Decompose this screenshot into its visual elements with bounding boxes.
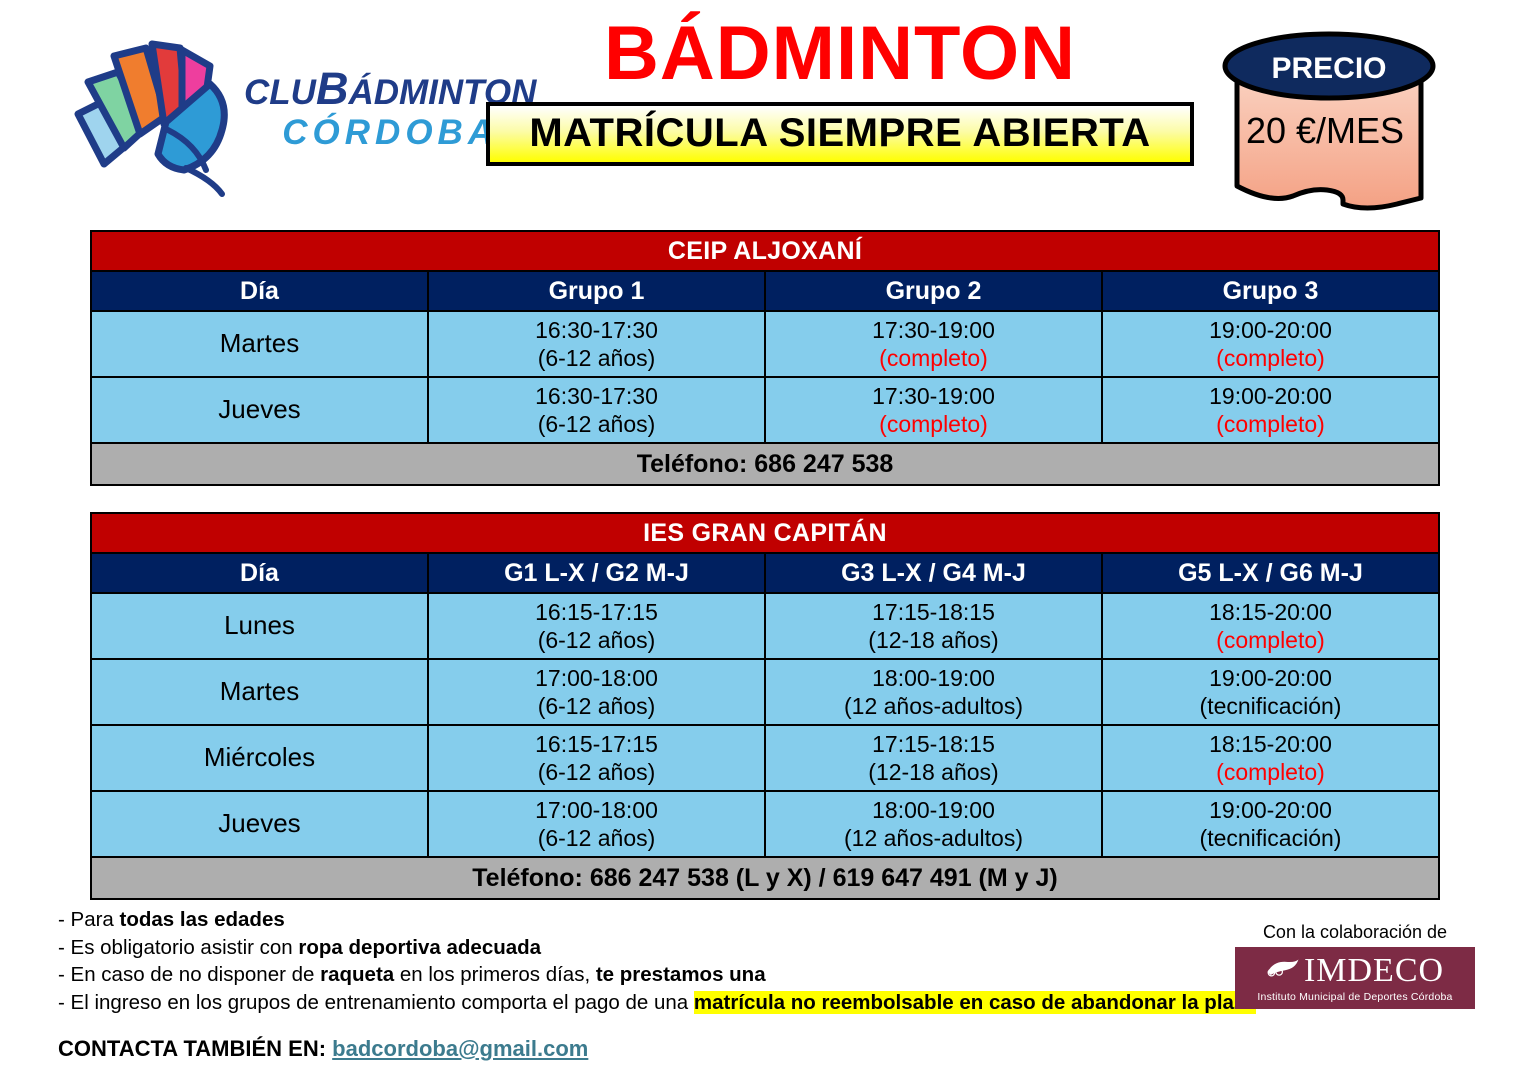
cell-note: (12-18 años): [766, 626, 1101, 654]
cell-time: 17:00-18:00: [429, 796, 764, 824]
day-label: Martes: [91, 659, 428, 725]
column-header-group-3: Grupo 3: [1102, 271, 1439, 311]
cell-time: 17:00-18:00: [429, 664, 764, 692]
cell-time: 17:15-18:15: [766, 730, 1101, 758]
table-header-row: Día G1 L-X / G2 M-J G3 L-X / G4 M-J G5 L…: [91, 553, 1439, 593]
cell-note: (12-18 años): [766, 758, 1101, 786]
cell-time: 16:15-17:15: [429, 730, 764, 758]
table-row: Jueves 16:30-17:30 (6-12 años) 17:30-19:…: [91, 377, 1439, 443]
cell-note: (completo): [1103, 410, 1438, 438]
day-label: Martes: [91, 311, 428, 377]
imdeco-swoosh-icon: [1266, 957, 1300, 984]
day-label: Jueves: [91, 791, 428, 857]
cell-note: (tecnificación): [1103, 824, 1438, 852]
cell-note: (completo): [766, 410, 1101, 438]
table-row: Lunes 16:15-17:15 (6-12 años) 17:15-18:1…: [91, 593, 1439, 659]
table-header-row: Día Grupo 1 Grupo 2 Grupo 3: [91, 271, 1439, 311]
note-text: - El ingreso en los grupos de entrenamie…: [58, 991, 694, 1014]
day-label: Lunes: [91, 593, 428, 659]
poster-header: CLUBÁDMINTON CÓRDOBA BÁDMINTON MATRÍCULA…: [0, 0, 1522, 220]
column-header-group-1: Grupo 1: [428, 271, 765, 311]
note-text: - Para: [58, 908, 120, 931]
column-header-group-1: G1 L-X / G2 M-J: [428, 553, 765, 593]
schedule-cell: 19:00-20:00 (completo): [1102, 311, 1439, 377]
cell-time: 16:15-17:15: [429, 598, 764, 626]
schedule-cell: 17:30-19:00 (completo): [765, 311, 1102, 377]
schedule-cell: 16:30-17:30 (6-12 años): [428, 377, 765, 443]
shuttlecock-icon: [70, 18, 240, 198]
schedule-cell: 17:15-18:15 (12-18 años): [765, 725, 1102, 791]
cell-time: 18:00-19:00: [766, 664, 1101, 692]
note-text: - Es obligatorio asistir con: [58, 936, 298, 959]
schedule-cell: 19:00-20:00 (tecnificación): [1102, 659, 1439, 725]
schedule-cell: 18:15-20:00 (completo): [1102, 725, 1439, 791]
cell-time: 19:00-20:00: [1103, 316, 1438, 344]
table-row: Miércoles 16:15-17:15 (6-12 años) 17:15-…: [91, 725, 1439, 791]
schedule-cell: 17:00-18:00 (6-12 años): [428, 659, 765, 725]
column-header-group-2: G3 L-X / G4 M-J: [765, 553, 1102, 593]
cell-time: 19:00-20:00: [1103, 382, 1438, 410]
note-item: - Para todas las edades: [58, 906, 1238, 934]
imdeco-logo: IMDECO Instituto Municipal de Deportes C…: [1235, 947, 1475, 1009]
title-block: BÁDMINTON MATRÍCULA SIEMPRE ABIERTA: [480, 14, 1200, 166]
phone-label[interactable]: Teléfono: 686 247 538 (L y X) / 619 647 …: [91, 857, 1439, 899]
schedule-cell: 16:15-17:15 (6-12 años): [428, 725, 765, 791]
schedule-cell: 19:00-20:00 (completo): [1102, 377, 1439, 443]
phone-label[interactable]: Teléfono: 686 247 538: [91, 443, 1439, 485]
cell-time: 16:30-17:30: [429, 316, 764, 344]
note-text: todas las edades: [120, 908, 285, 931]
enrollment-banner: MATRÍCULA SIEMPRE ABIERTA: [486, 102, 1194, 166]
price-badge: PRECIO 20 €/MES: [1215, 28, 1445, 213]
cell-time: 18:00-19:00: [766, 796, 1101, 824]
cell-note: (completo): [766, 344, 1101, 372]
table-row: Martes 16:30-17:30 (6-12 años) 17:30-19:…: [91, 311, 1439, 377]
table-row: Jueves 17:00-18:00 (6-12 años) 18:00-19:…: [91, 791, 1439, 857]
column-header-day: Día: [91, 271, 428, 311]
cell-note: (6-12 años): [429, 824, 764, 852]
contact-email-link[interactable]: badcordoba@gmail.com: [332, 1036, 588, 1061]
cell-time: 17:30-19:00: [766, 316, 1101, 344]
cell-time: 17:15-18:15: [766, 598, 1101, 626]
notes-list: - Para todas las edades- Es obligatorio …: [58, 906, 1238, 1016]
cell-note: (completo): [1103, 344, 1438, 372]
schedule-cell: 17:30-19:00 (completo): [765, 377, 1102, 443]
schedule-cell: 17:00-18:00 (6-12 años): [428, 791, 765, 857]
cell-time: 19:00-20:00: [1103, 796, 1438, 824]
cell-note: (6-12 años): [429, 758, 764, 786]
column-header-group-3: G5 L-X / G6 M-J: [1102, 553, 1439, 593]
contact-line: CONTACTA TAMBIÉN EN: badcordoba@gmail.co…: [58, 1036, 588, 1062]
page-title: BÁDMINTON: [480, 14, 1200, 94]
imdeco-subtitle: Instituto Municipal de Deportes Córdoba: [1257, 991, 1452, 1003]
contact-label: CONTACTA TAMBIÉN EN:: [58, 1036, 326, 1061]
enrollment-banner-label: MATRÍCULA SIEMPRE ABIERTA: [529, 111, 1150, 156]
imdeco-name: IMDECO: [1304, 954, 1444, 988]
column-header-group-2: Grupo 2: [765, 271, 1102, 311]
note-text: raqueta: [320, 963, 394, 986]
day-label: Miércoles: [91, 725, 428, 791]
note-text: te prestamos una: [596, 963, 766, 986]
schedule-cell: 17:15-18:15 (12-18 años): [765, 593, 1102, 659]
cell-time: 18:15-20:00: [1103, 730, 1438, 758]
cell-time: 18:15-20:00: [1103, 598, 1438, 626]
cell-time: 17:30-19:00: [766, 382, 1101, 410]
day-label: Jueves: [91, 377, 428, 443]
cell-note: (tecnificación): [1103, 692, 1438, 720]
cell-time: 16:30-17:30: [429, 382, 764, 410]
schedule-table-gran-capitan: IES GRAN CAPITÁN Día G1 L-X / G2 M-J G3 …: [90, 512, 1440, 900]
table-row: Martes 17:00-18:00 (6-12 años) 18:00-19:…: [91, 659, 1439, 725]
schedule-cell: 16:30-17:30 (6-12 años): [428, 311, 765, 377]
cell-note: (12 años-adultos): [766, 824, 1101, 852]
collaboration-block: Con la colaboración de IMDECO Instituto …: [1215, 922, 1495, 1009]
schedule-cell: 19:00-20:00 (tecnificación): [1102, 791, 1439, 857]
note-text: - En caso de no disponer de: [58, 963, 320, 986]
schedule-cell: 18:15-20:00 (completo): [1102, 593, 1439, 659]
table-footer-row: Teléfono: 686 247 538 (L y X) / 619 647 …: [91, 857, 1439, 899]
table-title-row: CEIP ALJOXANÍ: [91, 231, 1439, 271]
column-header-day: Día: [91, 553, 428, 593]
note-item: - En caso de no disponer de raqueta en l…: [58, 961, 1238, 989]
cell-note: (6-12 años): [429, 410, 764, 438]
note-text: ropa deportiva adecuada: [298, 936, 541, 959]
cell-note: (6-12 años): [429, 344, 764, 372]
club-logo: CLUBÁDMINTON CÓRDOBA: [70, 18, 536, 198]
note-item: - El ingreso en los grupos de entrenamie…: [58, 989, 1238, 1017]
venue-title: IES GRAN CAPITÁN: [91, 513, 1439, 553]
note-text: en los primeros días,: [394, 963, 596, 986]
cell-time: 19:00-20:00: [1103, 664, 1438, 692]
schedule-cell: 18:00-19:00 (12 años-adultos): [765, 791, 1102, 857]
cell-note: (6-12 años): [429, 626, 764, 654]
table-footer-row: Teléfono: 686 247 538: [91, 443, 1439, 485]
price-badge-label: PRECIO: [1271, 52, 1386, 85]
collaboration-label: Con la colaboración de: [1215, 922, 1495, 943]
note-highlight: matrícula no reembolsable en caso de aba…: [694, 991, 1256, 1014]
cell-note: (12 años-adultos): [766, 692, 1101, 720]
cell-note: (completo): [1103, 626, 1438, 654]
schedule-cell: 18:00-19:00 (12 años-adultos): [765, 659, 1102, 725]
schedule-table-aljoxani: CEIP ALJOXANÍ Día Grupo 1 Grupo 2 Grupo …: [90, 230, 1440, 486]
schedule-cell: 16:15-17:15 (6-12 años): [428, 593, 765, 659]
note-item: - Es obligatorio asistir con ropa deport…: [58, 934, 1238, 962]
venue-title: CEIP ALJOXANÍ: [91, 231, 1439, 271]
price-badge-value: 20 €/MES: [1246, 110, 1404, 151]
cell-note: (6-12 años): [429, 692, 764, 720]
cell-note: (completo): [1103, 758, 1438, 786]
table-title-row: IES GRAN CAPITÁN: [91, 513, 1439, 553]
